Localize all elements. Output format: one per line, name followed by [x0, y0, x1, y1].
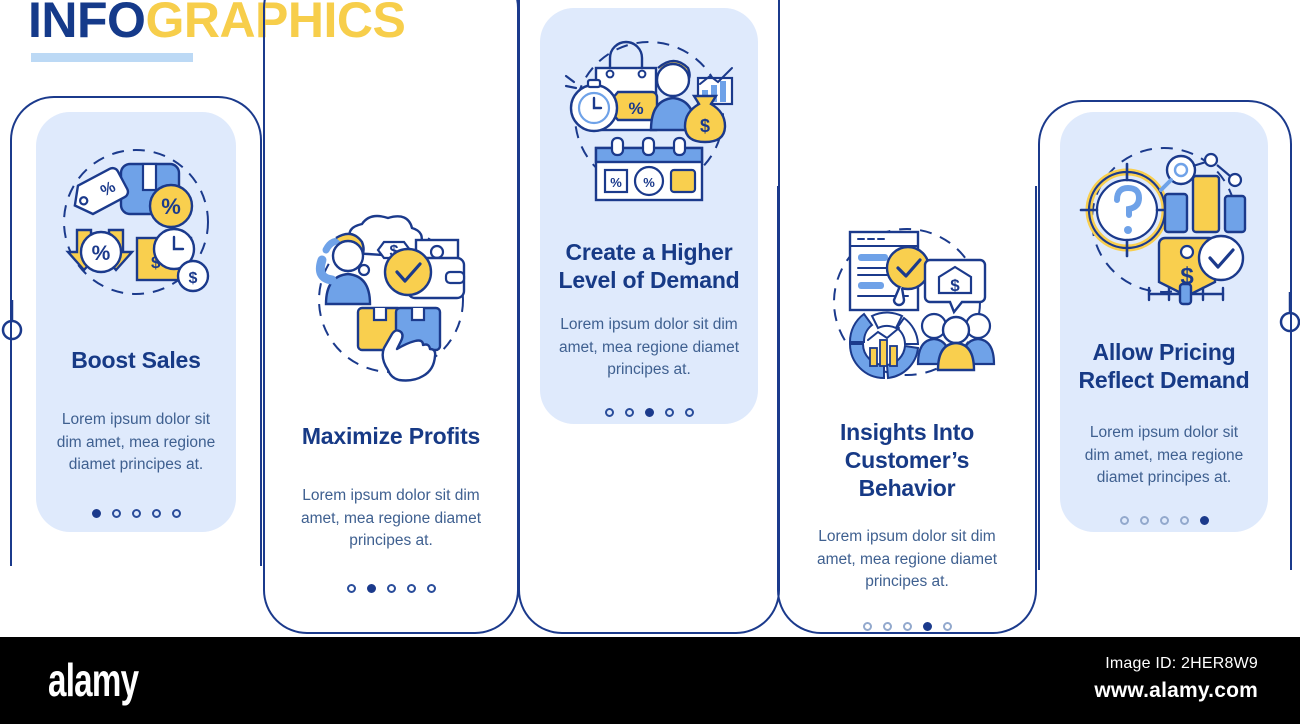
alamy-logo: alamy [48, 653, 138, 707]
step-dot-3[interactable] [903, 622, 912, 631]
discount-sales-icon: % % % $ $ [41, 134, 231, 324]
card-boost-sales[interactable]: % % % $ $ Boost Sales [36, 112, 236, 532]
card-title-line-3: Behavior [840, 474, 974, 502]
card-title-create-higher-demand: Create a Higher Level of Demand [558, 238, 739, 294]
website-label: www.alamy.com [1094, 679, 1258, 703]
card-pricing-reflect-demand[interactable]: $ Allow Pricing Reflect Demand Lorem ips… [1060, 112, 1268, 532]
step-indicator-create-higher-demand[interactable] [605, 408, 694, 417]
card-body-pricing-reflect-demand: Lorem ipsum dolor sit dim amet, mea regi… [1078, 422, 1250, 489]
step-dot-4[interactable] [1180, 516, 1189, 525]
infographic-canvas: alamy alamy alamy alamy alamy alamy alam… [0, 0, 1300, 724]
step-dot-5[interactable] [1200, 516, 1209, 525]
step-dot-2[interactable] [625, 408, 634, 417]
step-dot-3[interactable] [645, 408, 654, 417]
card-title-line-2: Reflect Demand [1078, 366, 1249, 394]
title-underline-bar [31, 53, 193, 62]
step-dot-2[interactable] [367, 584, 376, 593]
card-title-pricing-reflect-demand: Allow Pricing Reflect Demand [1078, 338, 1249, 394]
step-dot-3[interactable] [132, 509, 141, 518]
price-research-icon: $ [1069, 134, 1259, 324]
step-dot-3[interactable] [387, 584, 396, 593]
svg-text:$: $ [950, 276, 960, 295]
demand-campaign-icon: % $ [554, 30, 744, 220]
card-title-line-1: Insights Into [840, 418, 974, 446]
step-dot-5[interactable] [943, 622, 952, 631]
step-indicator-boost-sales[interactable] [92, 509, 181, 518]
step-dot-5[interactable] [427, 584, 436, 593]
analytics-audience-icon: $ [812, 212, 1002, 402]
step-dot-5[interactable] [685, 408, 694, 417]
card-title-line-2: Customer’s [840, 446, 974, 474]
card-create-higher-demand[interactable]: % $ [540, 8, 758, 424]
title-part-info: INFO [28, 0, 145, 48]
step-dot-1[interactable] [863, 622, 872, 631]
step-dot-1[interactable] [605, 408, 614, 417]
stock-footer-bar: alamy Image ID: 2HER8W9 www.alamy.com [0, 637, 1300, 724]
step-dot-5[interactable] [172, 509, 181, 518]
step-indicator-maximize-profits[interactable] [347, 584, 436, 593]
svg-text:%: % [628, 99, 643, 118]
image-id-label: Image ID: 2HER8W9 [1094, 655, 1258, 673]
card-title-boost-sales: Boost Sales [71, 346, 200, 374]
card-body-maximize-profits: Lorem ipsum dolor sit dim amet, mea regi… [300, 485, 482, 552]
svg-text:%: % [610, 175, 622, 190]
svg-text:$: $ [189, 270, 198, 287]
card-body-create-higher-demand: Lorem ipsum dolor sit dim amet, mea regi… [558, 314, 740, 381]
card-title-line-1: Create a Higher [558, 238, 739, 266]
step-dot-2[interactable] [1140, 516, 1149, 525]
step-dot-2[interactable] [883, 622, 892, 631]
svg-text:$: $ [700, 116, 710, 136]
step-dot-4[interactable] [407, 584, 416, 593]
step-dot-1[interactable] [1120, 516, 1129, 525]
step-dot-3[interactable] [1160, 516, 1169, 525]
card-title-customer-insights: Insights Into Customer’s Behavior [840, 418, 974, 502]
profit-decision-icon: $ [296, 208, 486, 398]
step-dot-4[interactable] [665, 408, 674, 417]
step-dot-4[interactable] [152, 509, 161, 518]
step-indicator-pricing-reflect-demand[interactable] [1120, 516, 1209, 525]
step-indicator-customer-insights[interactable] [863, 622, 952, 631]
svg-text:%: % [92, 242, 111, 265]
card-maximize-profits[interactable]: $ [282, 186, 500, 606]
step-dot-4[interactable] [923, 622, 932, 631]
step-dot-1[interactable] [347, 584, 356, 593]
card-body-customer-insights: Lorem ipsum dolor sit dim amet, mea regi… [816, 526, 998, 593]
card-customer-insights[interactable]: $ Insights Into Cu [798, 190, 1016, 606]
card-body-boost-sales: Lorem ipsum dolor sit dim amet, mea regi… [54, 409, 218, 476]
svg-text:%: % [161, 194, 181, 219]
step-dot-1[interactable] [92, 509, 101, 518]
card-title-line-1: Allow Pricing [1078, 338, 1249, 366]
card-title-maximize-profits: Maximize Profits [302, 422, 480, 450]
footer-meta: Image ID: 2HER8W9 www.alamy.com [1094, 655, 1258, 703]
svg-text:%: % [643, 175, 655, 190]
step-dot-2[interactable] [112, 509, 121, 518]
card-title-line-2: Level of Demand [558, 266, 739, 294]
